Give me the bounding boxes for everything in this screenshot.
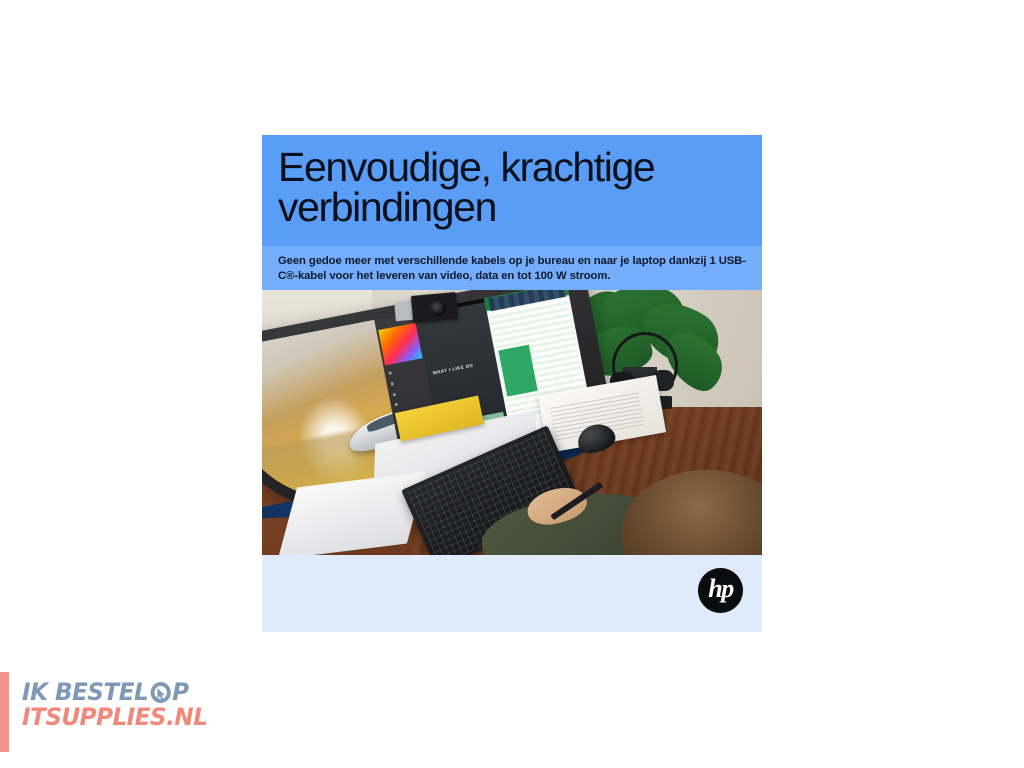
mouse-cursor-icon <box>151 682 171 703</box>
banner-footer: hp <box>262 555 762 632</box>
webcam-lens <box>429 300 446 316</box>
screen-tool-dot <box>392 393 396 397</box>
watermark-text-block: IK BESTEL P ITSUPPLIES.NL <box>22 680 215 730</box>
screen-tool-dot <box>390 382 394 386</box>
subtitle-text: Geen gedoe meer met verschillende kabels… <box>278 254 746 284</box>
watermark-line-1: IK BESTEL P <box>22 680 207 705</box>
product-photo: WHAT I LIKE DO <box>262 290 762 555</box>
watermark-accent-bar <box>0 672 9 752</box>
itsupplies-watermark: IK BESTEL P ITSUPPLIES.NL <box>0 672 250 752</box>
hp-promo-banner: Eenvoudige, krachtige verbindingen Geen … <box>262 135 762 632</box>
headline-band: Eenvoudige, krachtige verbindingen <box>262 135 762 246</box>
hp-logo-icon: hp <box>698 568 743 613</box>
watermark-line-1-tail: P <box>172 680 188 705</box>
screen-color-swatch <box>378 322 423 365</box>
watermark-line-1-text: IK BESTEL <box>22 680 148 705</box>
hp-logo-text: hp <box>698 568 743 613</box>
subtitle-band: Geen gedoe meer met verschillende kabels… <box>262 246 762 290</box>
screen-tool-dot <box>388 371 392 375</box>
watermark-line-2: ITSUPPLIES.NL <box>22 705 207 730</box>
page-title: Eenvoudige, krachtige verbindingen <box>278 147 746 227</box>
